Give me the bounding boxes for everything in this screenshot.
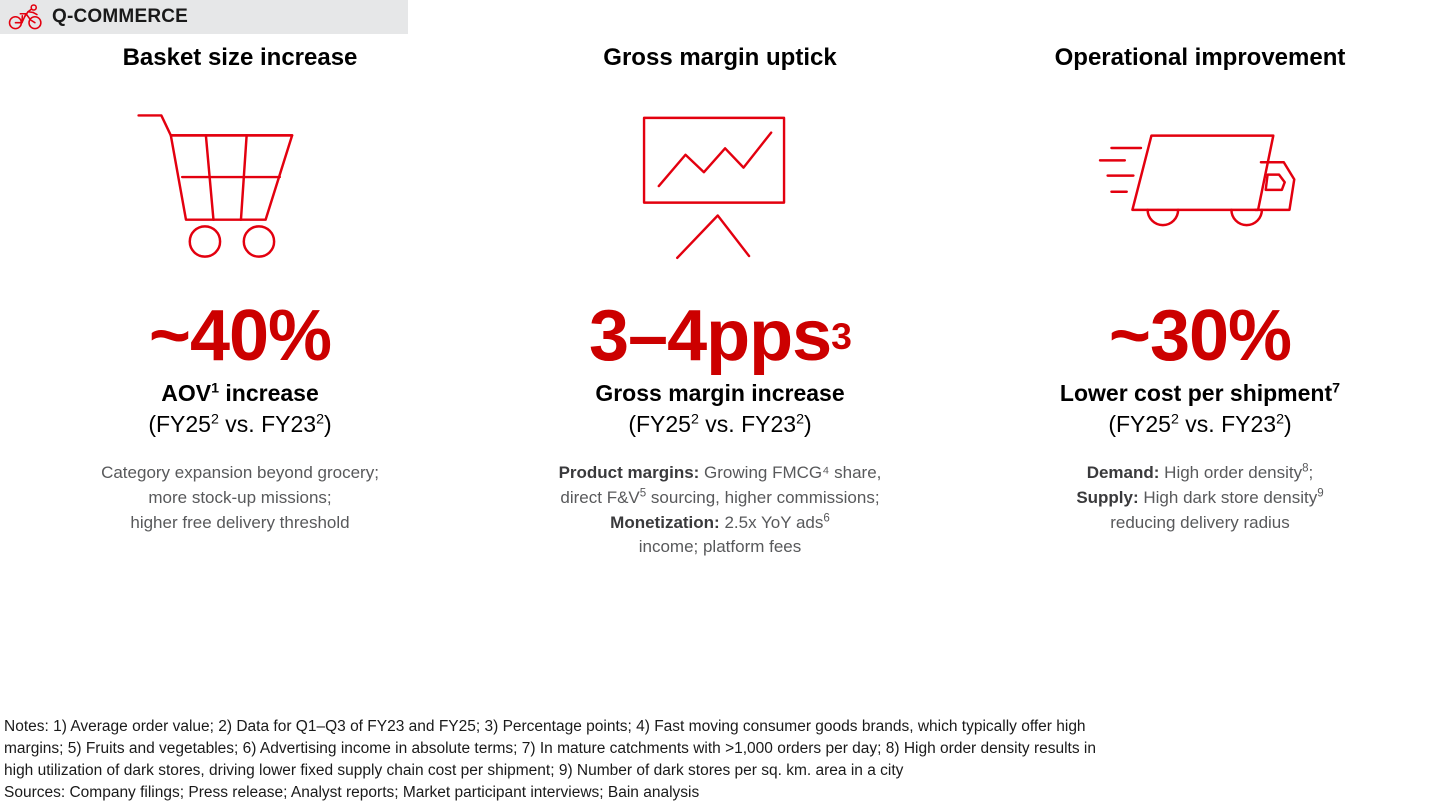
description-line: higher free delivery threshold xyxy=(101,511,379,536)
delivery-truck-icon xyxy=(976,87,1424,287)
metric-subtitle-period-text: (FY252 vs. FY232) xyxy=(1108,411,1291,437)
metric-column-basket-size: Basket size increase ~40% xyxy=(0,44,480,560)
metric-description: Product margins: Growing FMCG⁴ share, di… xyxy=(559,461,882,560)
metric-value: 3–4pps3 xyxy=(589,293,851,379)
column-title: Operational improvement xyxy=(1055,44,1346,73)
description-line: Category expansion beyond grocery; xyxy=(101,461,379,486)
cyclist-icon xyxy=(8,4,44,30)
metric-value: ~40% xyxy=(149,293,331,379)
metric-description: Demand: High order density8; Supply: Hig… xyxy=(1076,461,1323,535)
description-label: Product margins: xyxy=(559,463,700,482)
footnote-line: margins; 5) Fruits and vegetables; 6) Ad… xyxy=(4,738,1436,760)
metric-subtitle-bold: Lower cost per shipment7 xyxy=(1060,379,1340,408)
description-text: Growing FMCG⁴ share, xyxy=(699,463,881,482)
metric-column-gross-margin: Gross margin uptick 3–4pps3 Gross margin… xyxy=(480,44,960,560)
footnote-line: high utilization of dark stores, driving… xyxy=(4,760,1436,782)
metric-subtitle-period-text: (FY252 vs. FY232) xyxy=(148,411,331,437)
metric-subtitle-bold-text: Lower cost per shipment7 xyxy=(1060,380,1340,406)
footnote-sources-line: Sources: Company filings; Press release;… xyxy=(4,782,1436,804)
metric-description: Category expansion beyond grocery; more … xyxy=(101,461,379,535)
description-line: Demand: High order density8; xyxy=(1076,461,1323,486)
description-line: reducing delivery radius xyxy=(1076,511,1323,536)
shopping-cart-icon xyxy=(16,87,464,287)
description-line: more stock-up missions; xyxy=(101,486,379,511)
description-line: Monetization: 2.5x YoY ads6 xyxy=(559,511,882,536)
description-label: Supply: xyxy=(1076,488,1138,507)
metric-value: ~30% xyxy=(1109,293,1291,379)
metric-value-text: 3–4pps xyxy=(589,300,831,372)
column-title: Basket size increase xyxy=(123,44,358,73)
description-line: Product margins: Growing FMCG⁴ share, xyxy=(559,461,882,486)
metric-subtitle-period: (FY252 vs. FY232) xyxy=(1108,410,1291,440)
chart-uptick-icon xyxy=(496,87,944,287)
metric-value-text: ~30% xyxy=(1109,300,1291,372)
metric-subtitle-bold-text: AOV1 increase xyxy=(161,380,319,406)
metric-column-operational: Operational improvement ~30% xyxy=(960,44,1440,560)
metric-columns: Basket size increase ~40% xyxy=(0,44,1440,560)
metric-subtitle-bold: AOV1 increase xyxy=(161,379,319,408)
description-line: income; platform fees xyxy=(559,535,882,560)
footnotes: Notes: 1) Average order value; 2) Data f… xyxy=(0,716,1440,804)
description-label: Monetization: xyxy=(610,513,720,532)
footnote-line: Notes: 1) Average order value; 2) Data f… xyxy=(4,716,1436,738)
section-header-label: Q-COMMERCE xyxy=(52,6,188,28)
section-header-badge: Q-COMMERCE xyxy=(0,0,408,34)
description-label: Demand: xyxy=(1087,463,1160,482)
metric-subtitle-period-text: (FY252 vs. FY232) xyxy=(628,411,811,437)
metric-subtitle-period: (FY252 vs. FY232) xyxy=(148,410,331,440)
column-title: Gross margin uptick xyxy=(603,44,836,73)
metric-subtitle-bold: Gross margin increase xyxy=(595,379,844,408)
description-line: direct F&V5 sourcing, higher commissions… xyxy=(559,486,882,511)
metric-subtitle-period: (FY252 vs. FY232) xyxy=(628,410,811,440)
metric-value-text: ~40% xyxy=(149,300,331,372)
description-line: Supply: High dark store density9 xyxy=(1076,486,1323,511)
